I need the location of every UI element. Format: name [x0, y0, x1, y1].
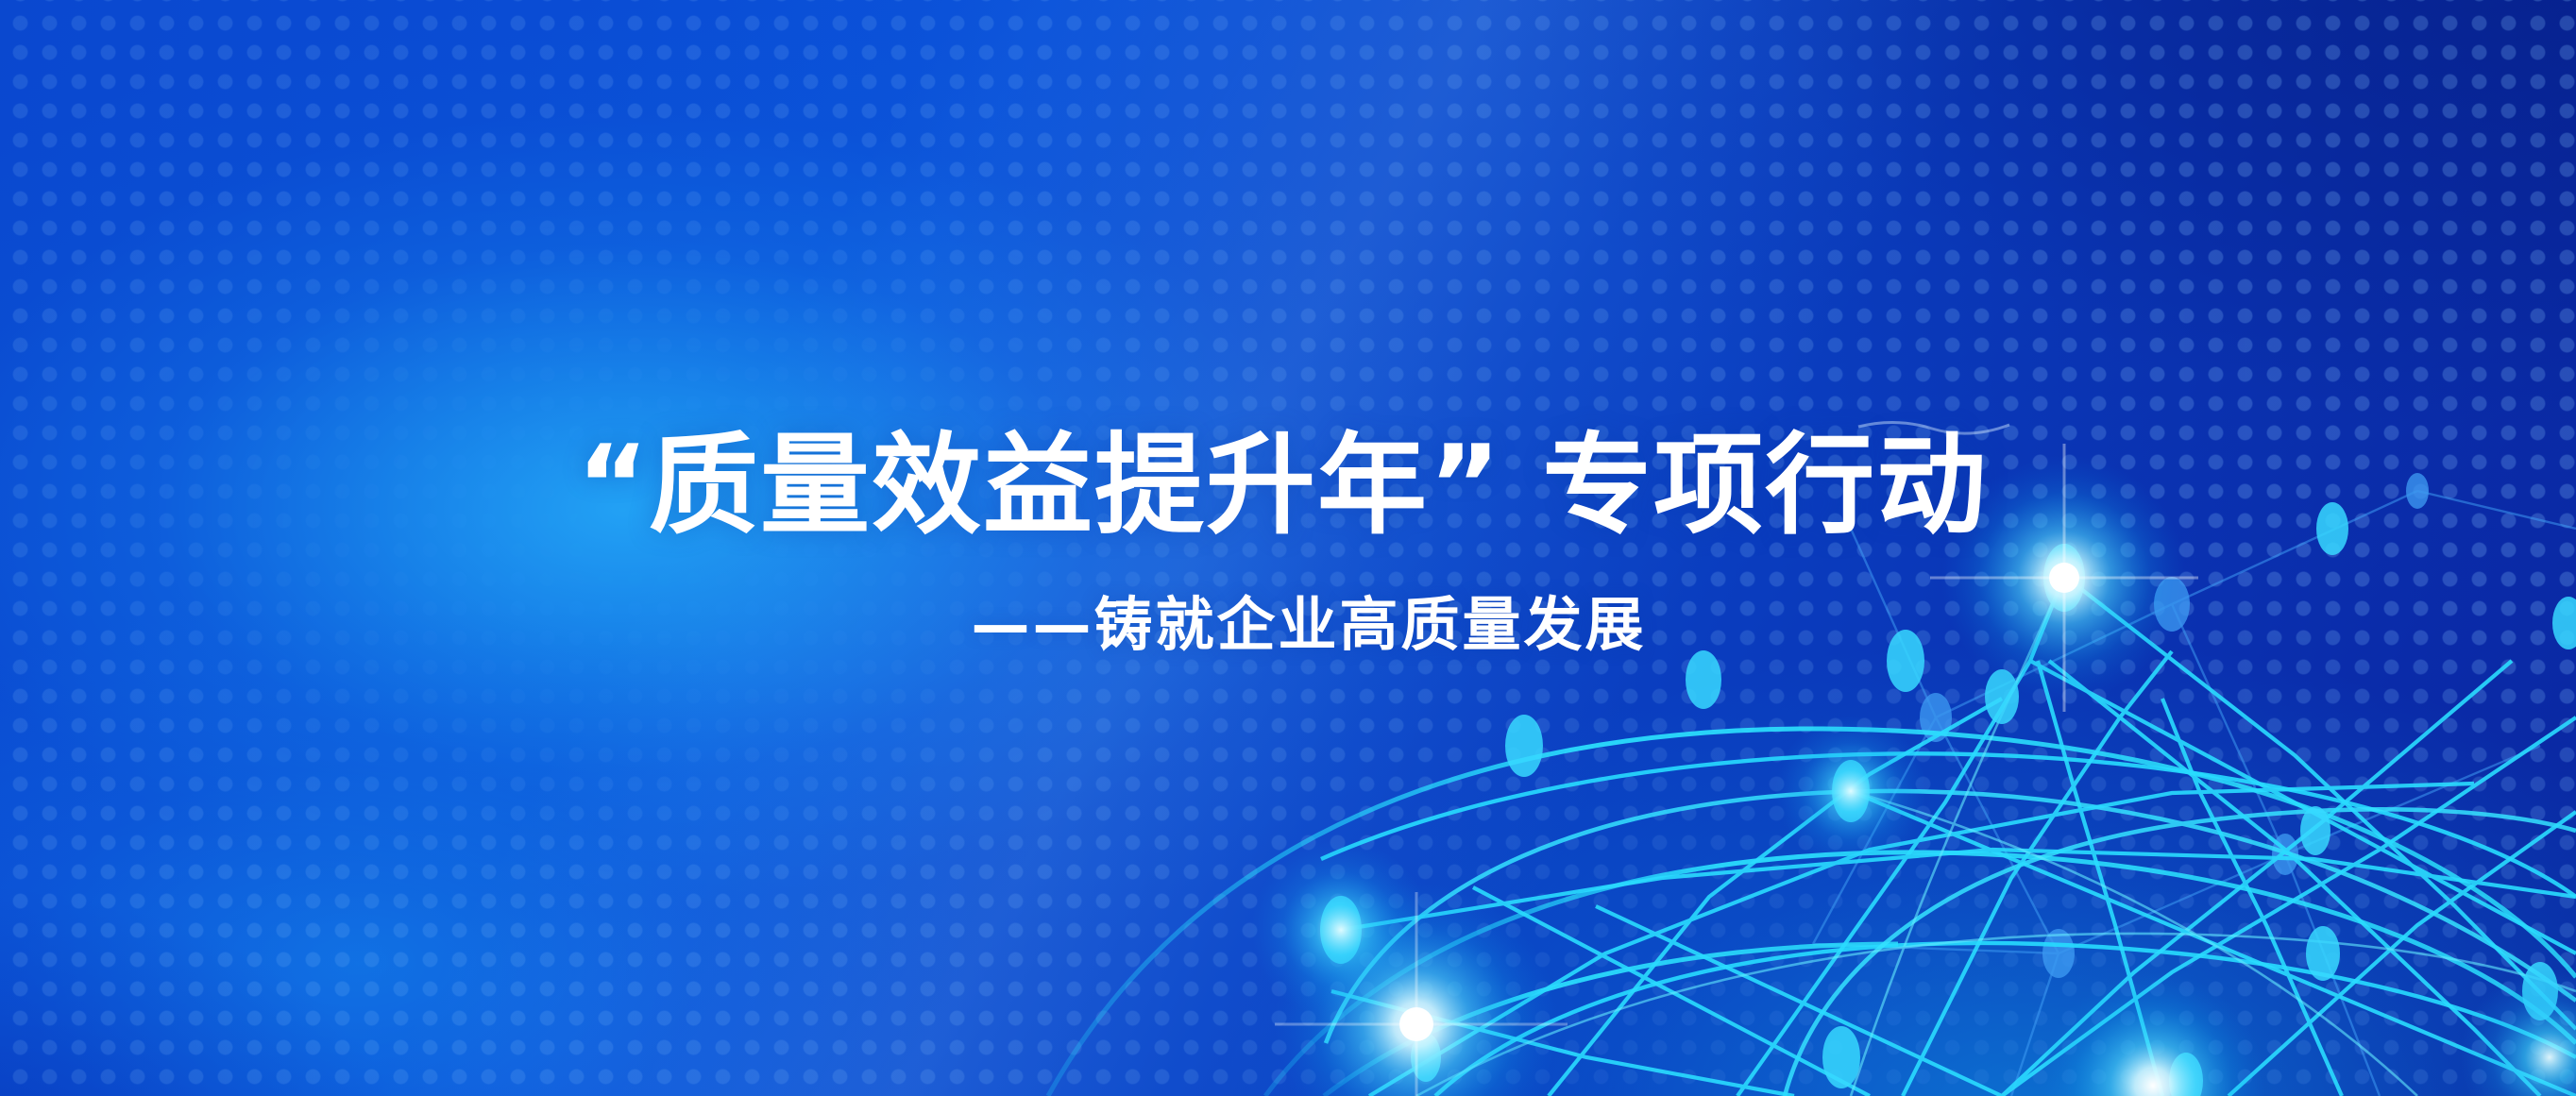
wireframe-globe-network: [0, 0, 2576, 1096]
banner-canvas: “质量效益提升年”专项行动 ——铸就企业高质量发展: [0, 0, 2576, 1096]
